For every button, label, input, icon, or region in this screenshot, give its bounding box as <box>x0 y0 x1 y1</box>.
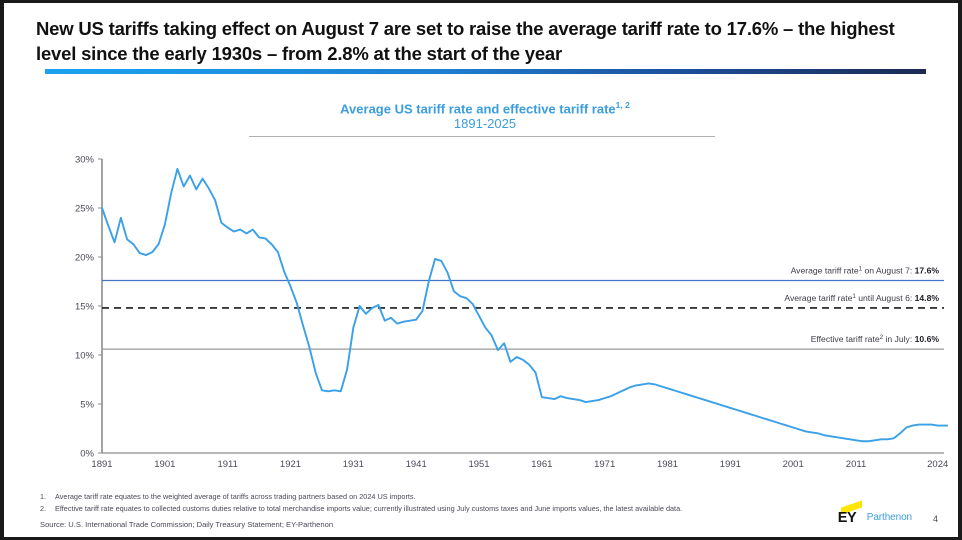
x-axis-tick-label: 1891 <box>91 459 112 470</box>
page-number: 4 <box>933 514 938 524</box>
x-axis-tick-label: 1931 <box>343 459 364 470</box>
annotation-value: 10.6% <box>915 334 940 344</box>
parthenon-wordmark: Parthenon <box>867 510 912 526</box>
x-axis-tick-labels: 1891190119111921193119411951196119711981… <box>91 459 948 470</box>
footnote-item-1: 1. Average tariff rate equates to the we… <box>40 491 840 503</box>
y-axis-tick-label: 0% <box>80 448 94 459</box>
footnote-1-number: 1. <box>40 491 55 503</box>
average-tariff-rate-series <box>102 169 947 441</box>
chart-subtitle: 1891-2025 <box>185 116 785 131</box>
annotation-august7: Average tariff rate1 on August 7: 17.6% <box>791 266 940 276</box>
footnote-2-text: Effective tariff rate equates to collect… <box>55 503 682 515</box>
x-axis-tick-label: 1961 <box>531 459 552 470</box>
tariff-line-chart: 0%5%10%15%20%25%30% 18911901191119211931… <box>64 153 954 483</box>
annotation-effective: Effective tariff rate2 in July: 10.6% <box>811 334 940 344</box>
y-axis-tick-labels: 0%5%10%15%20%25%30% <box>75 154 102 459</box>
annotation-label: Average tariff rate <box>784 293 852 303</box>
annotation-value: 17.6% <box>915 266 940 276</box>
annotation-mid: in July: <box>883 334 915 344</box>
chart-title-superscript: 1, 2 <box>616 100 630 110</box>
annotation-mid: on August 7: <box>862 266 915 276</box>
ey-logo-mark: EY <box>838 503 864 525</box>
x-axis-tick-label: 2011 <box>846 459 866 470</box>
chart-title-rule <box>249 136 715 137</box>
footnotes: 1. Average tariff rate equates to the we… <box>40 491 840 515</box>
x-axis-tick-label: 1941 <box>406 459 427 470</box>
annotation-mid: until August 6: <box>856 293 915 303</box>
chart-area: 0%5%10%15%20%25%30% 18911901191119211931… <box>64 153 954 483</box>
y-axis-tick-label: 15% <box>75 301 95 312</box>
x-axis-tick-label: 1911 <box>217 459 237 470</box>
accent-divider-bar <box>45 69 926 74</box>
ey-parthenon-logo: EY Parthenon <box>838 503 912 525</box>
y-axis-tick-label: 10% <box>75 350 95 361</box>
x-axis-tick-label: 1921 <box>280 459 301 470</box>
footnote-2-number: 2. <box>40 503 55 515</box>
annotation-august6: Average tariff rate1 until August 6: 14.… <box>784 293 939 303</box>
annotation-value: 14.8% <box>915 293 940 303</box>
y-axis-tick-label: 30% <box>75 154 95 165</box>
page-title: New US tariffs taking effect on August 7… <box>36 17 936 66</box>
footnote-item-2: 2. Effective tariff rate equates to coll… <box>40 503 840 515</box>
slide-canvas: New US tariffs taking effect on August 7… <box>0 0 962 540</box>
source-line: Source: U.S. International Trade Commiss… <box>40 520 333 529</box>
ey-wordmark: EY <box>838 511 857 526</box>
y-axis-tick-label: 5% <box>80 399 94 410</box>
y-axis-tick-label: 25% <box>75 203 95 214</box>
reference-line-annotations: Average tariff rate1 on August 7: 17.6%A… <box>784 266 939 345</box>
x-axis-tick-label: 1901 <box>154 459 175 470</box>
x-axis-tick-label: 1991 <box>720 459 741 470</box>
x-axis-tick-label: 2001 <box>783 459 804 470</box>
x-axis-tick-label: 1951 <box>468 459 489 470</box>
annotation-label: Effective tariff rate <box>811 334 880 344</box>
footnote-1-text: Average tariff rate equates to the weigh… <box>55 491 416 503</box>
y-axis-tick-label: 20% <box>75 252 95 263</box>
x-axis-tick-label: 1981 <box>657 459 678 470</box>
chart-title-text: Average US tariff rate and effective tar… <box>340 101 616 116</box>
x-axis-tick-label: 2024 <box>927 459 948 470</box>
x-axis-tick-label: 1971 <box>594 459 615 470</box>
annotation-label: Average tariff rate <box>791 266 859 276</box>
